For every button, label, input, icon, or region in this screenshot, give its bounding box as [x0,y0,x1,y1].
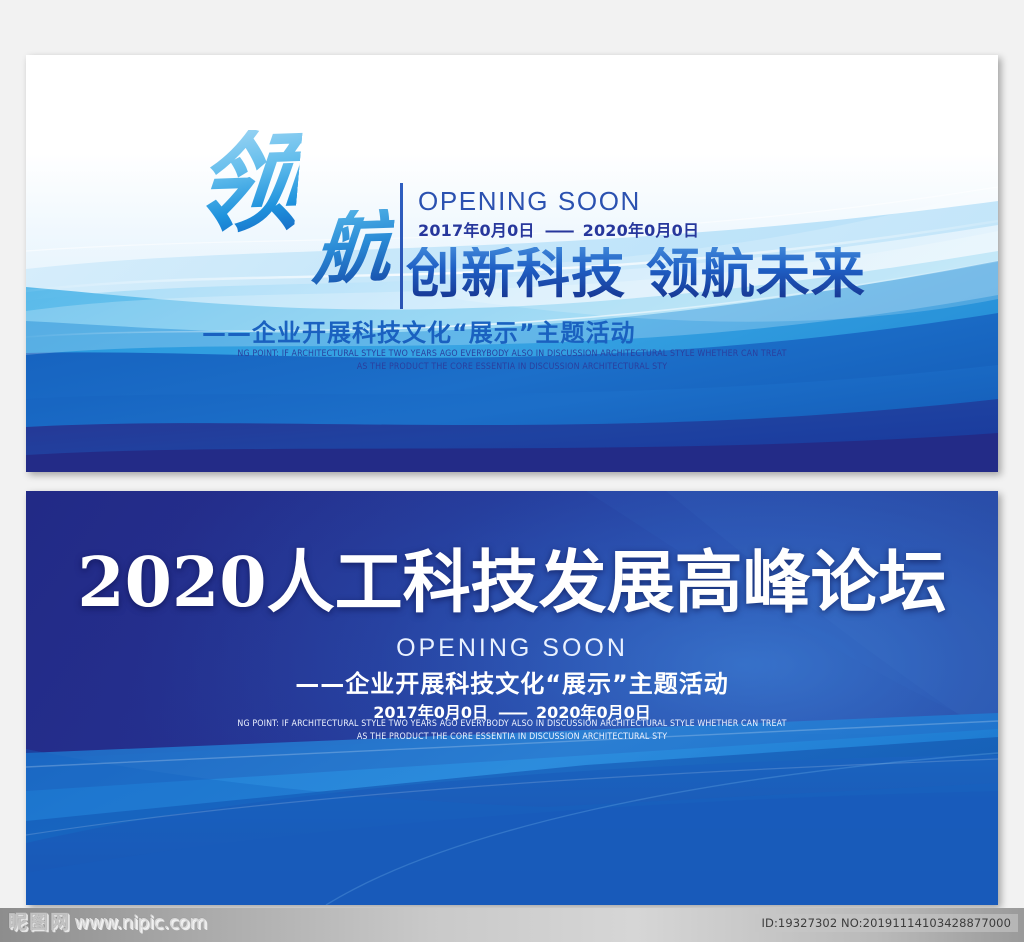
watermark-char-2: 图 [29,912,48,933]
asset-id-badge: ID:19327302 NO:20191114103428877000 [755,914,1018,932]
banner-light: 领 航 OPENING SOON 2017年0月0日——2020年0月0日 创新… [26,55,998,472]
banner-dark-title: 2020人工科技发展高峰论坛 [26,549,998,617]
date-dash: —— [535,221,583,240]
poster-stage: 领 航 OPENING SOON 2017年0月0日——2020年0月0日 创新… [0,0,1024,942]
calligraphy-hang: 航 [310,209,395,290]
banner-dark-english-line-2: AS THE PRODUCT THE CORE ESSENTIA IN DISC… [60,732,964,742]
vertical-divider [400,183,403,309]
opening-soon-label-2: OPENING SOON [26,634,998,663]
banner-light-subtitle: ——企业开展科技文化“展示”主题活动 [202,313,636,348]
watermark-url: www.nipic.com [74,912,207,933]
banner-light-english-line-2: AS THE PRODUCT THE CORE ESSENTIA IN DISC… [60,362,964,372]
watermark-logo-icon: 昵 图 网 [8,912,69,933]
watermark-char-3: 网 [50,912,69,933]
site-watermark: 昵 图 网 www.nipic.com [8,912,207,933]
date-start: 2017年0月0日 [418,221,535,240]
banner-light-headline: 领 航 OPENING SOON 2017年0月0日——2020年0月0日 创新… [26,55,998,305]
opening-soon-label: OPENING SOON [418,186,641,217]
banner-light-english-line-1: NG POINT: IF ARCHITECTURAL STYLE TWO YEA… [60,349,964,359]
banner-dark: 2020人工科技发展高峰论坛 OPENING SOON ——企业开展科技文化“展… [26,491,998,905]
banner-dark-subtitle: ——企业开展科技文化“展示”主题活动 [26,664,998,699]
footer-bar: 昵 图 网 www.nipic.com ID:19327302 NO:20191… [0,908,1024,942]
watermark-char-1: 昵 [8,912,27,933]
calligraphy-ling: 领 [189,128,303,240]
date-end: 2020年0月0日 [583,221,700,240]
date-range: 2017年0月0日——2020年0月0日 [418,217,699,241]
banner-dark-english-line-1: NG POINT: IF ARCHITECTURAL STYLE TWO YEA… [60,719,964,729]
banner-light-title: 创新科技 领航未来 [406,247,866,301]
